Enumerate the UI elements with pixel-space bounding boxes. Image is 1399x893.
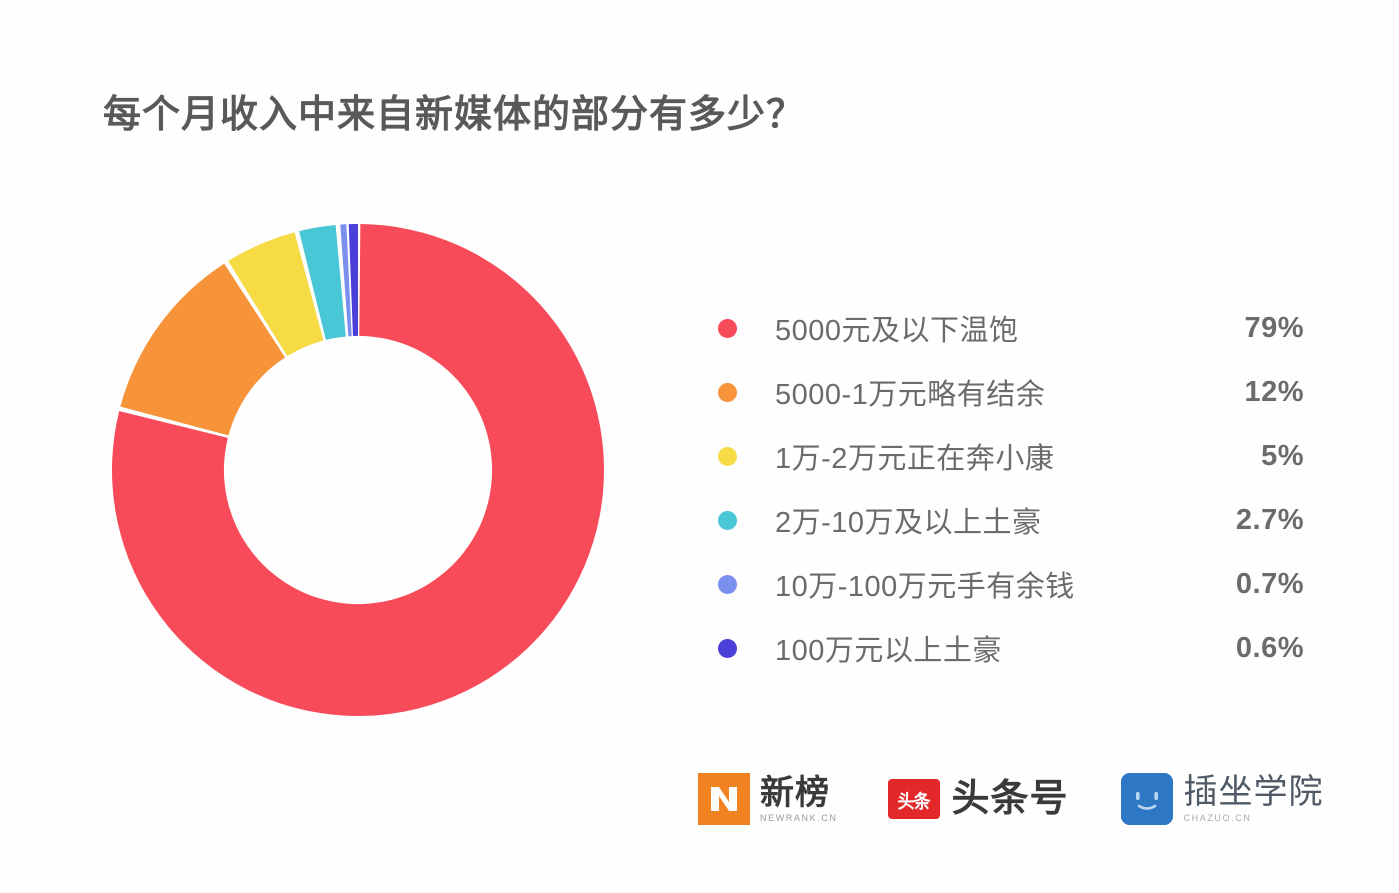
legend-item-label: 5000元及以下温饱 — [775, 307, 1019, 349]
newrank-name: 新榜 — [760, 774, 830, 812]
newrank-wordmark: 新榜 NEWRANK.CN — [760, 776, 838, 823]
legend-item[interactable]: 10万-100万元手有余钱0.7% — [706, 552, 1306, 616]
donut-chart — [110, 222, 606, 718]
legend-color-swatch-icon — [718, 575, 737, 594]
legend-item-value: 12% — [1244, 376, 1304, 409]
legend-item[interactable]: 100万元以上土豪0.6% — [706, 616, 1306, 680]
legend-item-label: 10万-100万元手有余钱 — [775, 563, 1075, 605]
chazuo-face-mark-icon — [1121, 773, 1173, 825]
legend-item-value: 79% — [1244, 312, 1304, 345]
chazuo-name: 插坐学院 — [1184, 773, 1324, 811]
chart-legend: 5000元及以下温饱79%5000-1万元略有结余12%1万-2万元正在奔小康5… — [706, 296, 1306, 680]
legend-item[interactable]: 1万-2万元正在奔小康5% — [706, 424, 1306, 488]
legend-item-value: 0.7% — [1236, 568, 1304, 601]
donut-chart-svg — [110, 222, 606, 718]
logo-newrank[interactable]: 新榜 NEWRANK.CN — [698, 773, 838, 825]
donut-slice-group — [112, 224, 604, 716]
legend-item[interactable]: 2万-10万及以上土豪2.7% — [706, 488, 1306, 552]
legend-color-swatch-icon — [718, 639, 737, 658]
legend-item-value: 0.6% — [1236, 632, 1304, 665]
logo-chazuo[interactable]: 插坐学院 CHAZUO.CN — [1121, 773, 1324, 825]
legend-color-swatch-icon — [718, 319, 737, 338]
legend-color-swatch-icon — [718, 383, 737, 402]
legend-item-value: 5% — [1261, 440, 1304, 473]
chazuo-domain: CHAZUO.CN — [1184, 814, 1324, 823]
legend-item-label: 2万-10万及以上土豪 — [775, 499, 1042, 541]
legend-color-swatch-icon — [718, 511, 737, 530]
newrank-n-mark-icon — [698, 773, 750, 825]
page-title: 每个月收入中来自新媒体的部分有多少？ — [103, 83, 805, 138]
legend-item[interactable]: 5000-1万元略有结余12% — [706, 360, 1306, 424]
chazuo-wordmark: 插坐学院 CHAZUO.CN — [1184, 775, 1324, 823]
toutiao-mark-icon: 头条 — [888, 779, 940, 819]
newrank-domain: NEWRANK.CN — [760, 814, 838, 823]
legend-color-swatch-icon — [718, 447, 737, 466]
toutiao-mark-text: 头条 — [898, 785, 930, 813]
legend-item-label: 5000-1万元略有结余 — [775, 371, 1045, 413]
legend-item-value: 2.7% — [1236, 504, 1304, 537]
footer-logo-bar: 新榜 NEWRANK.CN 头条 头条号 插坐学院 CHAZUO.CN — [698, 773, 1324, 825]
legend-item-label: 100万元以上土豪 — [775, 627, 1002, 669]
legend-item[interactable]: 5000元及以下温饱79% — [706, 296, 1306, 360]
legend-item-label: 1万-2万元正在奔小康 — [775, 435, 1054, 477]
toutiao-name: 头条号 — [952, 780, 1069, 818]
logo-toutiao[interactable]: 头条 头条号 — [888, 779, 1069, 819]
